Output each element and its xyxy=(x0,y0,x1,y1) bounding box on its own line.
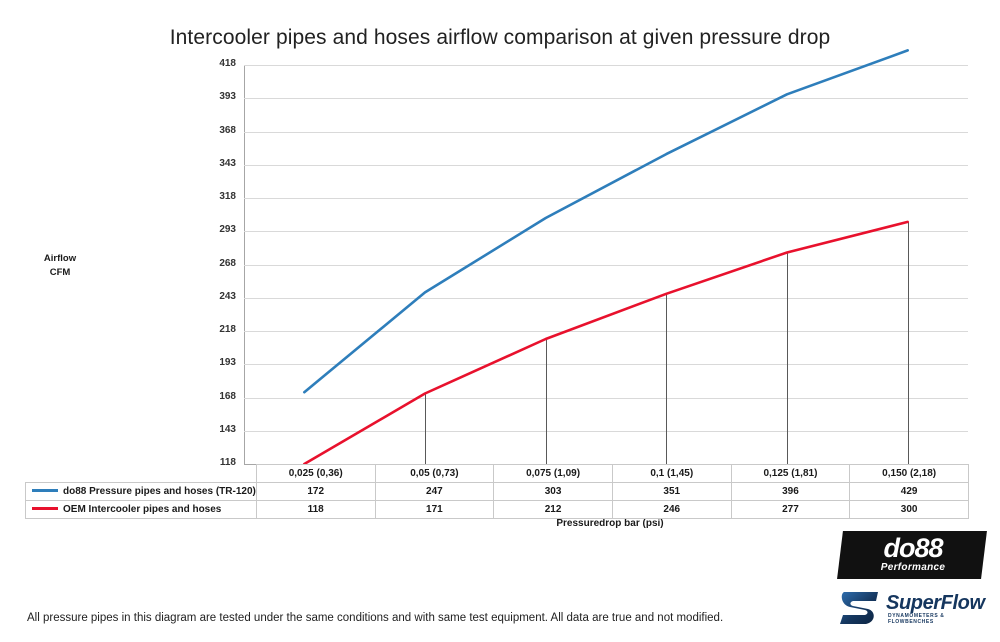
table-category-header: 0,05 (0,73) xyxy=(375,465,494,483)
y-axis-tick-label: 118 xyxy=(196,457,236,468)
y-axis-tick-label: 193 xyxy=(196,357,236,368)
table-cell-value: 396 xyxy=(731,483,850,501)
legend-item-series-1: do88 Pressure pipes and hoses (TR-120) xyxy=(26,483,257,501)
y-axis-tick-label: 343 xyxy=(196,158,236,169)
table-cell-value: 246 xyxy=(612,501,731,519)
y-axis-tick-label: 418 xyxy=(196,58,236,69)
page-title: Intercooler pipes and hoses airflow comp… xyxy=(0,26,1000,50)
table-row-categories: 0,025 (0,36)0,05 (0,73)0,075 (1,09)0,1 (… xyxy=(26,465,969,483)
y-axis-tick-label: 293 xyxy=(196,224,236,235)
do88-logo-text: do88 xyxy=(848,533,978,563)
do88-logo: do88 Performance xyxy=(840,531,984,579)
superflow-logo-tagline: DYNAMOMETERS & FLOWBENCHES xyxy=(888,613,988,625)
table-row-series-1: do88 Pressure pipes and hoses (TR-120) 1… xyxy=(26,483,969,501)
table-cell-value: 118 xyxy=(256,501,375,519)
legend-item-series-2: OEM Intercooler pipes and hoses xyxy=(26,501,257,519)
do88-logo-tagline: Performance xyxy=(848,562,978,573)
plot-area xyxy=(244,65,968,464)
table-cell-value: 171 xyxy=(375,501,494,519)
table-cell-value: 351 xyxy=(612,483,731,501)
table-cell-value: 172 xyxy=(256,483,375,501)
series-lines xyxy=(244,65,968,464)
table-category-header: 0,125 (1,81) xyxy=(731,465,850,483)
superflow-logo-text: SuperFlow xyxy=(886,592,985,615)
table-category-header: 0,150 (2,18) xyxy=(850,465,969,483)
table-cell-value: 300 xyxy=(850,501,969,519)
table-cell-value: 303 xyxy=(494,483,613,501)
y-axis-title-line1: Airflow xyxy=(44,253,76,264)
legend-label-series-1: do88 Pressure pipes and hoses (TR-120) xyxy=(63,486,256,497)
legend-swatch-red-icon xyxy=(32,507,58,510)
table-cell-value: 212 xyxy=(494,501,613,519)
legend-label-series-2: OEM Intercooler pipes and hoses xyxy=(63,504,221,515)
data-table: 0,025 (0,36)0,05 (0,73)0,075 (1,09)0,1 (… xyxy=(25,464,969,519)
y-axis-tick-label: 393 xyxy=(196,91,236,102)
table-category-header: 0,025 (0,36) xyxy=(256,465,375,483)
legend-swatch-blue-icon xyxy=(32,489,58,492)
superflow-swoosh-icon xyxy=(838,589,882,627)
y-axis-title-line2: CFM xyxy=(50,267,71,278)
footer-note: All pressure pipes in this diagram are t… xyxy=(27,612,723,624)
y-axis-tick-label: 143 xyxy=(196,424,236,435)
superflow-logo: SuperFlow DYNAMOMETERS & FLOWBENCHES xyxy=(838,588,988,628)
table-row-series-2: OEM Intercooler pipes and hoses 11817121… xyxy=(26,501,969,519)
table-cell-value: 429 xyxy=(850,483,969,501)
y-axis-tick-label: 218 xyxy=(196,324,236,335)
x-axis-title: Pressuredrop bar (psi) xyxy=(460,518,760,529)
table-category-header: 0,1 (1,45) xyxy=(612,465,731,483)
table-category-header: 0,075 (1,09) xyxy=(494,465,613,483)
table-cell-value: 277 xyxy=(731,501,850,519)
y-axis-tick-label: 318 xyxy=(196,191,236,202)
y-axis-tick-label: 268 xyxy=(196,258,236,269)
y-axis-tick-label: 168 xyxy=(196,391,236,402)
table-cell-value: 247 xyxy=(375,483,494,501)
y-axis-tick-label: 243 xyxy=(196,291,236,302)
series-line-2 xyxy=(304,222,907,464)
series-line-1 xyxy=(304,50,907,392)
y-axis-tick-label: 368 xyxy=(196,125,236,136)
y-axis-title: Airflow CFM xyxy=(28,252,92,280)
